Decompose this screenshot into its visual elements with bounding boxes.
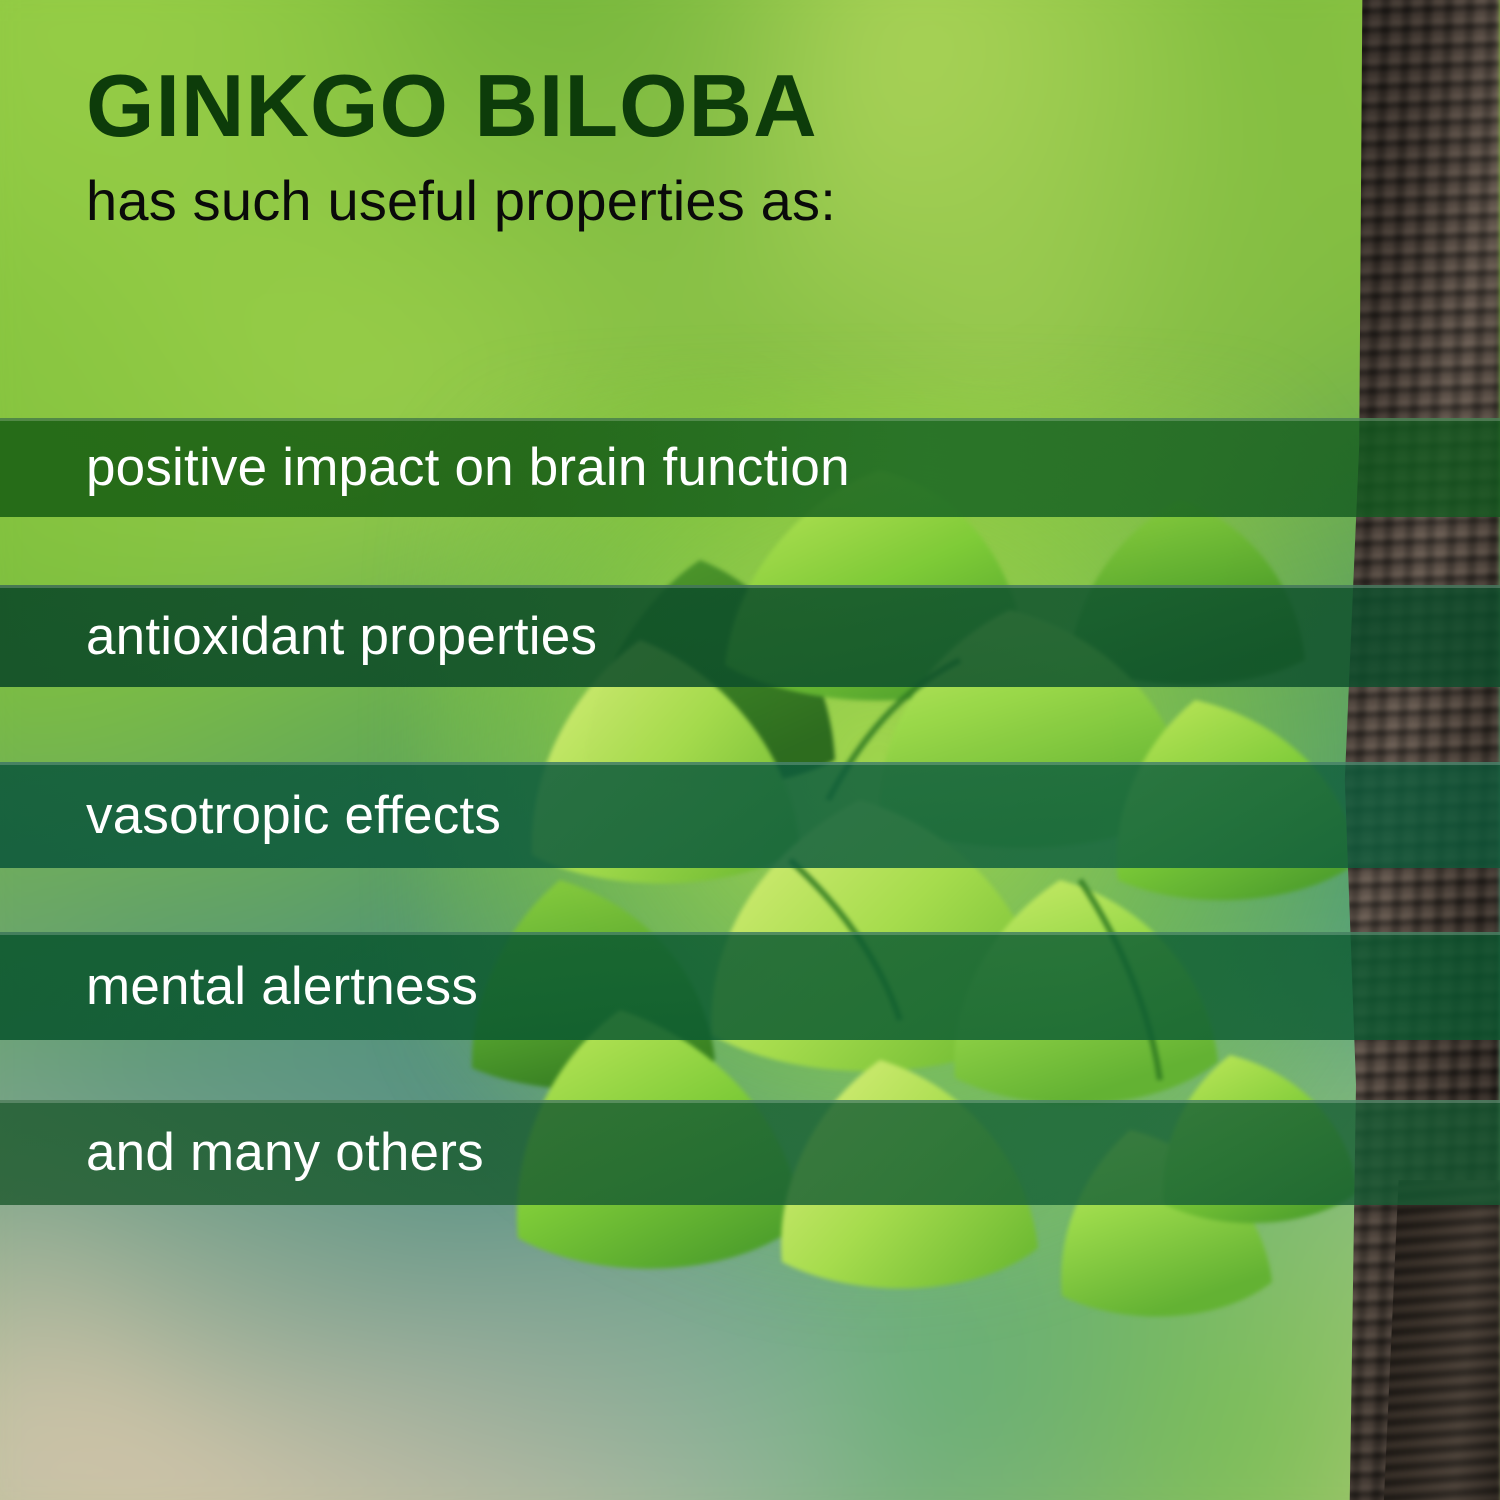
benefit-band: and many others xyxy=(0,1100,1500,1205)
benefit-label: mental alertness xyxy=(86,956,478,1017)
band-divider xyxy=(0,932,1500,935)
band-divider xyxy=(0,1100,1500,1103)
benefit-band: antioxidant properties xyxy=(0,585,1500,687)
band-divider xyxy=(0,762,1500,765)
page-title: GINKGO BILOBA xyxy=(86,62,1266,150)
benefit-label: vasotropic effects xyxy=(86,785,501,846)
benefit-label: and many others xyxy=(86,1122,484,1183)
band-divider xyxy=(0,418,1500,421)
band-divider xyxy=(0,585,1500,588)
ginkgo-biloba-infographic: GINKGO BILOBA has such useful properties… xyxy=(0,0,1500,1500)
page-subtitle: has such useful properties as: xyxy=(86,172,1266,231)
benefit-band: mental alertness xyxy=(0,932,1500,1040)
benefit-band: vasotropic effects xyxy=(0,762,1500,868)
benefit-label: positive impact on brain function xyxy=(86,437,850,498)
header-block: GINKGO BILOBA has such useful properties… xyxy=(86,62,1266,231)
benefit-label: antioxidant properties xyxy=(86,606,597,667)
benefit-band: positive impact on brain function xyxy=(0,418,1500,517)
